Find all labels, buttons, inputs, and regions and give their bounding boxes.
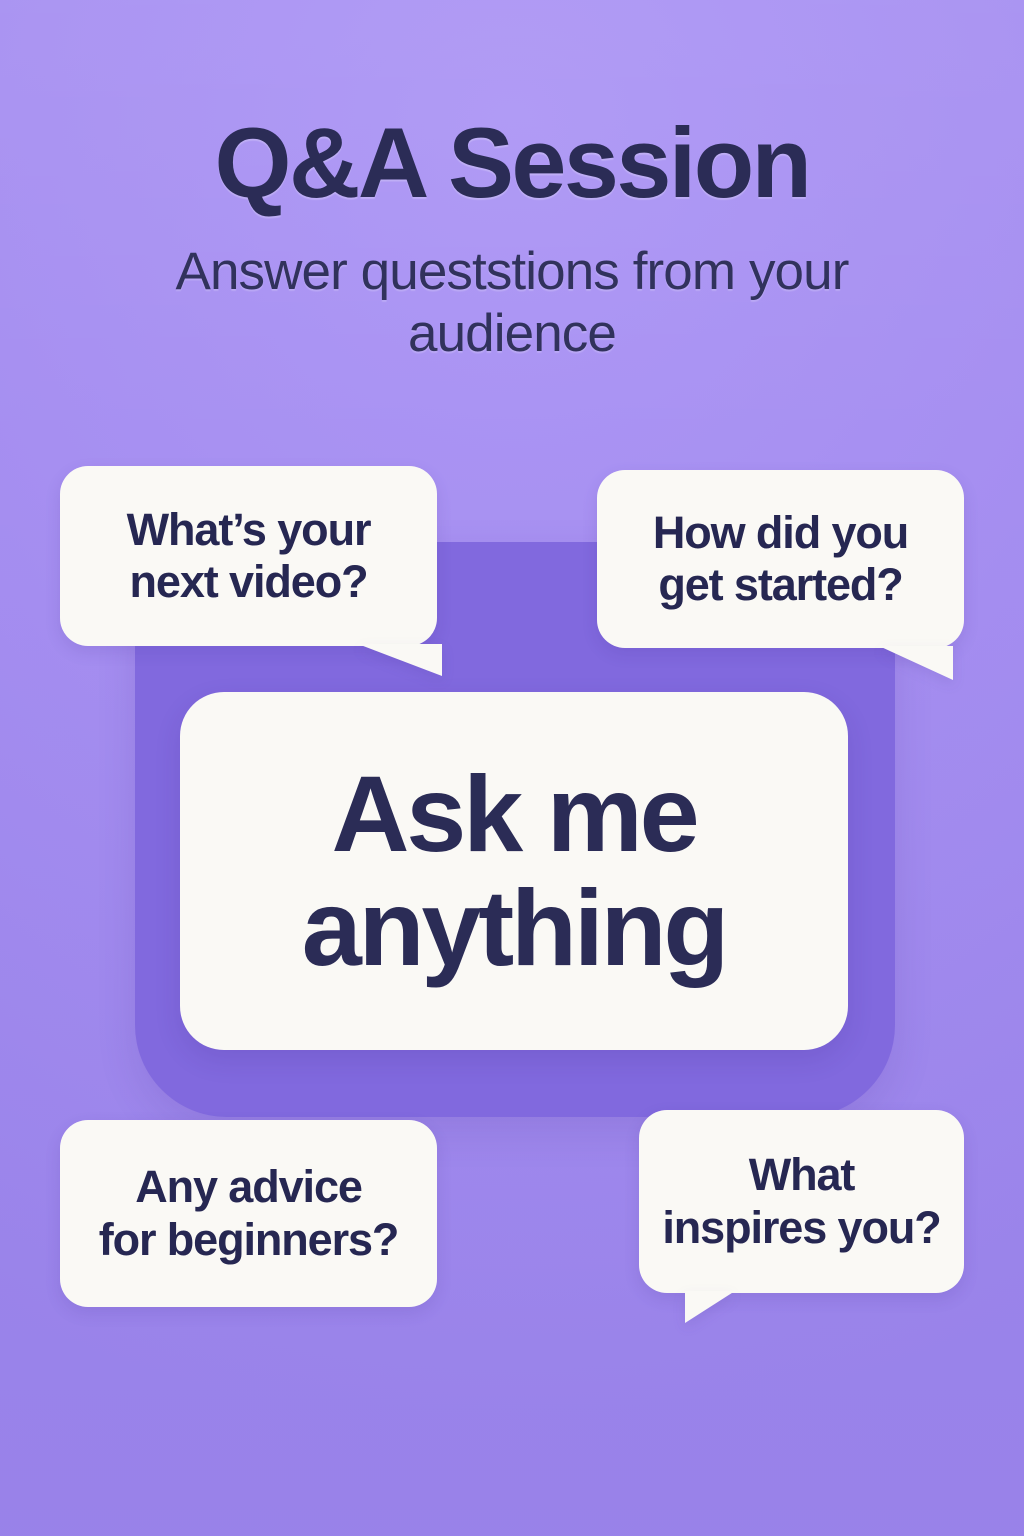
page-subtitle: Answer queststions from your audience: [132, 241, 892, 366]
speech-bubble-advice: Any advice for beginners?: [60, 1120, 437, 1307]
speech-bubble-text: What inspires you?: [662, 1149, 940, 1253]
speech-bubble-inspires: What inspires you?: [639, 1110, 964, 1293]
speech-bubble-tail: [879, 646, 953, 680]
speech-bubble-get-started: How did you get started?: [597, 470, 964, 648]
speech-bubble-tail: [685, 1291, 735, 1323]
hero-card-text: Ask me anything: [302, 757, 726, 986]
qa-session-poster: Q&A Session Answer queststions from your…: [0, 0, 1024, 1536]
page-title: Q&A Session: [0, 112, 1024, 215]
header-block: Q&A Session Answer queststions from your…: [0, 112, 1024, 366]
speech-bubble-next-video: What’s your next video?: [60, 466, 437, 646]
speech-bubble-text: What’s your next video?: [127, 504, 371, 608]
hero-card: Ask me anything: [180, 692, 848, 1050]
speech-bubble-text: How did you get started?: [653, 507, 908, 611]
speech-bubble-tail: [358, 644, 442, 676]
speech-bubble-text: Any advice for beginners?: [99, 1161, 399, 1265]
